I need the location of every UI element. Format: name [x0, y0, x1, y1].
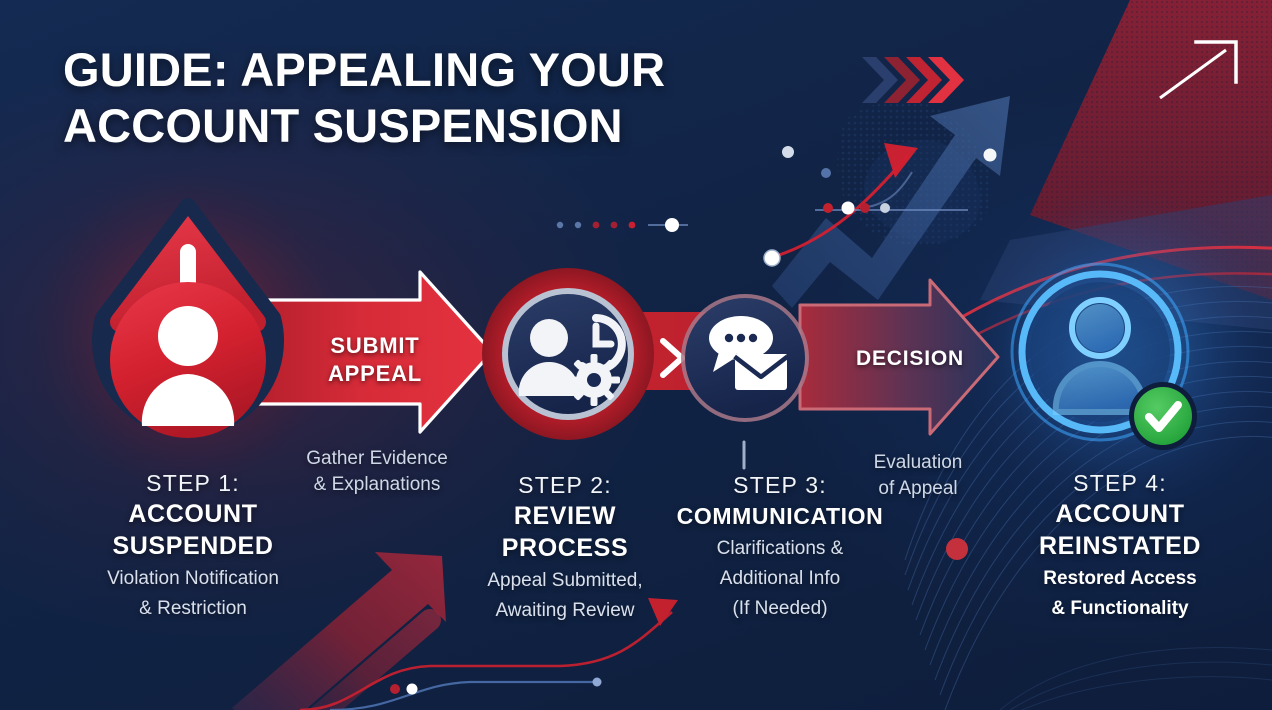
- step-4-icon[interactable]: [1000, 252, 1210, 464]
- title-line-1: GUIDE: APPEALING YOUR: [63, 42, 665, 98]
- step-4-sub-line-2: & Functionality: [960, 596, 1272, 622]
- step-2-icon[interactable]: [478, 258, 658, 458]
- step-3-sub-line-2: Additional Info: [640, 566, 920, 592]
- step-1-name-line-2: SUSPENDED: [28, 530, 358, 562]
- person-head-icon: [530, 319, 568, 357]
- step-4-name-line-2: REINSTATED: [960, 530, 1272, 562]
- infographic-canvas: GUIDE: APPEALING YOUR ACCOUNT SUSPENSION: [0, 0, 1272, 710]
- step-1-sub-line-1: Violation Notification: [28, 566, 358, 592]
- decision-label: DECISION: [835, 345, 985, 373]
- step-3-name-line-1: COMMUNICATION: [640, 500, 920, 532]
- step-1-icon[interactable]: [68, 198, 308, 448]
- page-title: GUIDE: APPEALING YOUR ACCOUNT SUSPENSION: [63, 42, 665, 154]
- submit-appeal-label-line-2: APPEAL: [300, 360, 450, 388]
- decision-caption-line-2: of Appeal: [828, 476, 1008, 502]
- decision-caption: Evaluation of Appeal: [828, 450, 1008, 502]
- decision-caption-line-1: Evaluation: [828, 450, 1008, 476]
- submit-appeal-label-line-1: SUBMIT: [300, 332, 450, 360]
- step-3-icon[interactable]: [679, 288, 811, 438]
- step-1-sub-line-2: & Restriction: [28, 596, 358, 622]
- title-line-2: ACCOUNT SUSPENSION: [63, 98, 665, 154]
- decision-label-line-1: DECISION: [835, 345, 985, 373]
- step-4-sub-line-1: Restored Access: [960, 566, 1272, 592]
- submit-appeal-caption: Gather Evidence & Explanations: [262, 446, 492, 498]
- step-3-sub-line-1: Clarifications &: [640, 536, 920, 562]
- step-1-name-line-1: ACCOUNT: [28, 498, 358, 530]
- submit-caption-line-1: Gather Evidence: [262, 446, 492, 472]
- gear-icon: [568, 354, 620, 406]
- step-4-name-line-1: ACCOUNT: [960, 498, 1272, 530]
- submit-appeal-label: SUBMIT APPEAL: [300, 332, 450, 388]
- success-check-badge: [1129, 382, 1197, 450]
- envelope-icon: [735, 354, 787, 390]
- step-3-sub-line-3: (If Needed): [640, 596, 920, 622]
- submit-caption-line-2: & Explanations: [262, 472, 492, 498]
